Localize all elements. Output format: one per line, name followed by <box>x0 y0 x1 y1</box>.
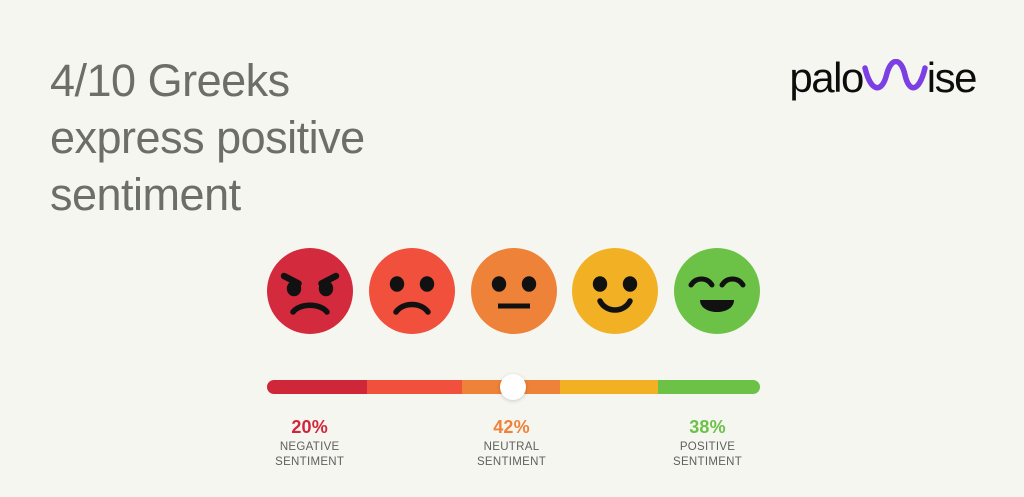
face-sad-circle <box>369 248 455 334</box>
segment-negative-strong <box>267 380 367 394</box>
face-angry-circle <box>267 248 353 334</box>
stat-label: NEUTRAL SENTIMENT <box>422 440 602 470</box>
stat-item: 20%NEGATIVE SENTIMENT <box>220 416 400 470</box>
segment-positive-light <box>560 380 658 394</box>
stat-label: POSITIVE SENTIMENT <box>618 440 798 470</box>
stat-percentage: 42% <box>422 416 602 438</box>
face-angry <box>267 248 353 334</box>
stat-percentage: 38% <box>618 416 798 438</box>
segment-negative-light <box>367 380 462 394</box>
sentiment-gradient-bar[interactable] <box>267 380 760 394</box>
face-very-happy-circle <box>674 248 760 334</box>
face-neutral <box>471 248 557 334</box>
face-happy-circle <box>572 248 658 334</box>
logo-text-after: ise <box>927 57 976 99</box>
sentiment-face-scale <box>267 247 760 335</box>
face-very-happy <box>674 248 760 334</box>
face-sad <box>369 248 455 334</box>
brand-logo: palo ise <box>789 52 976 104</box>
wave-w-icon <box>862 59 928 98</box>
face-neutral-circle <box>471 248 557 334</box>
segment-positive-strong <box>658 380 760 394</box>
stat-label: NEGATIVE SENTIMENT <box>220 440 400 470</box>
stat-item: 38%POSITIVE SENTIMENT <box>618 416 798 470</box>
sentiment-stats: 20%NEGATIVE SENTIMENT42%NEUTRAL SENTIMEN… <box>225 416 805 476</box>
face-happy <box>572 248 658 334</box>
stat-item: 42%NEUTRAL SENTIMENT <box>422 416 602 470</box>
sentiment-bar-knob[interactable] <box>500 374 526 400</box>
stat-percentage: 20% <box>220 416 400 438</box>
logo-text-before: palo <box>789 57 862 99</box>
page-headline: 4/10 Greeks express positive sentiment <box>50 52 470 223</box>
